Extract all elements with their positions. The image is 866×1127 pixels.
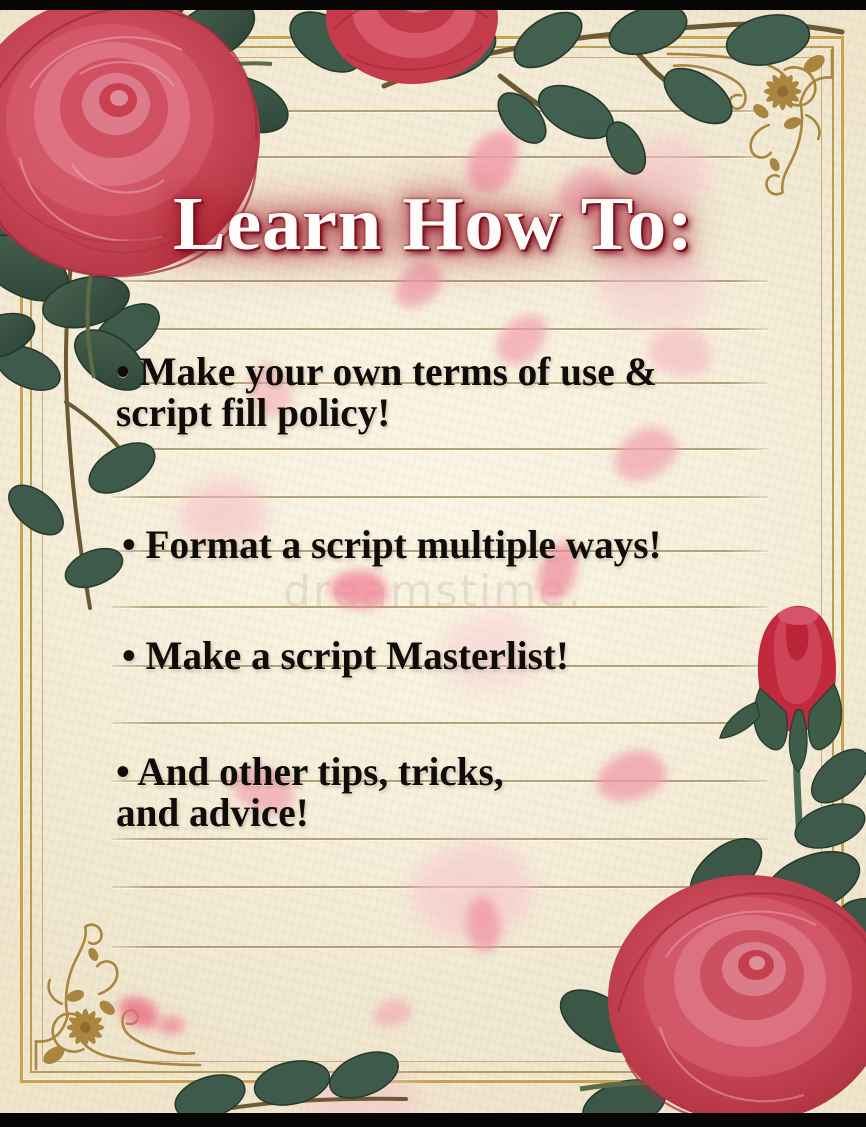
page-title: Learn How To:	[173, 188, 694, 261]
poster-canvas: dreamstime. Learn Ho	[0, 0, 866, 1127]
list-item: • Format a script multiple ways!	[122, 525, 662, 566]
poster-title-area: Learn How To:	[0, 188, 866, 261]
list-item: • And other tips, tricks, and advice!	[116, 752, 504, 834]
letterbox-bottom	[0, 1113, 866, 1127]
watermark-text: dreamstime.	[0, 566, 866, 617]
parchment-page: dreamstime. Learn Ho	[0, 10, 866, 1113]
letterbox-top	[0, 0, 866, 10]
list-item: • Make your own terms of use & script fi…	[116, 352, 657, 434]
list-item: • Make a script Masterlist!	[122, 636, 569, 677]
